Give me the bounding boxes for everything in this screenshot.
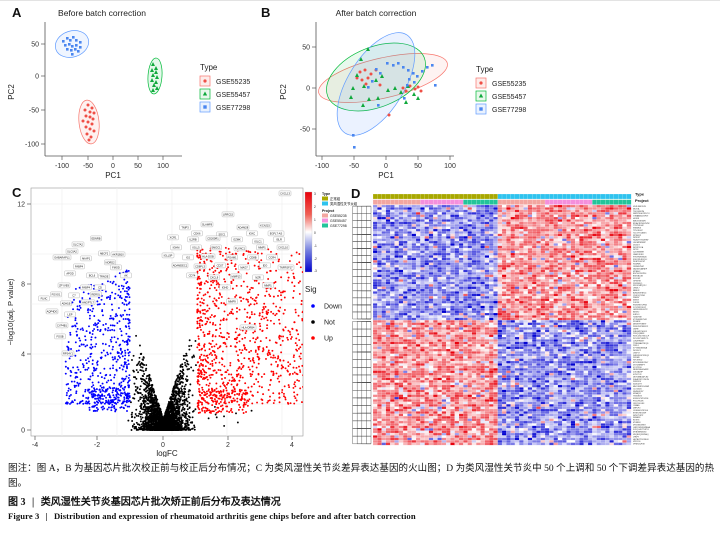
svg-text:SLC7A2: SLC7A2 — [73, 243, 83, 247]
svg-text:AKR1B10: AKR1B10 — [112, 253, 124, 257]
svg-text:FMOD: FMOD — [112, 266, 120, 270]
sig-legend-title: Sig — [305, 285, 317, 294]
caption-en-number: Figure 3 — [8, 511, 39, 521]
svg-text:PGAM1: PGAM1 — [227, 256, 237, 260]
svg-text:50: 50 — [302, 45, 310, 52]
panel-b-legend-item-1: GSE55457 — [492, 94, 526, 101]
panel-a-ylabel: PC2 — [7, 84, 16, 100]
svg-text:CD27: CD27 — [217, 264, 224, 268]
svg-text:EGFL7-AS: EGFL7-AS — [270, 232, 283, 236]
panel-a-legend-item-2: GSE77298 — [216, 105, 250, 112]
panel-a-legend-item-0: GSE55235 — [216, 79, 250, 86]
svg-text:TNFRSF17: TNFRSF17 — [279, 266, 293, 270]
svg-text:CDK6: CDK6 — [194, 232, 201, 236]
panel-d-heatmap: D Type Project V441J8WOUW6EZOATDK109VXMN… — [345, 182, 720, 457]
svg-text:2: 2 — [226, 442, 230, 449]
panel-b-title: After batch correction — [336, 8, 417, 18]
svg-text:100: 100 — [444, 163, 456, 170]
svg-text:FABP4: FABP4 — [82, 286, 91, 290]
panel-a-y-ticks: 50 0 -50 -100 — [25, 42, 45, 149]
svg-text:IDO: IDO — [263, 264, 268, 268]
panel-b-legend: Type GSE55235 GSE55457 GSE77298 — [476, 65, 526, 114]
column-annotation-type — [373, 194, 631, 199]
svg-text:4: 4 — [21, 352, 25, 359]
svg-text:TNIP3: TNIP3 — [181, 226, 189, 230]
svg-text:MAO7: MAO7 — [240, 266, 248, 270]
svg-text:TRNOE: TRNOE — [99, 275, 108, 279]
heatmap-row-labels: V441J8WOUW6EZOATDK109VXMNW9PSLHYKRL7UGTB… — [633, 206, 651, 446]
figure-area: A Before batch correction 50 0 -50 -100 … — [0, 0, 720, 460]
svg-text:4: 4 — [290, 442, 294, 449]
panel-d-letter: D — [351, 186, 360, 201]
panel-a-letter: A — [12, 5, 22, 20]
svg-text:IGKC: IGKC — [249, 232, 255, 236]
svg-text:0: 0 — [111, 163, 115, 170]
svg-text:AK: AK — [124, 274, 128, 278]
svg-text:ISLR: ISLR — [276, 238, 282, 242]
svg-text:-50: -50 — [349, 163, 359, 170]
sig-legend-down: Down — [324, 304, 342, 311]
svg-text:50: 50 — [414, 163, 422, 170]
svg-text:-4: -4 — [32, 442, 38, 449]
svg-text:MMP9: MMP9 — [228, 300, 236, 304]
svg-text:CXCL13: CXCL13 — [280, 192, 290, 196]
svg-text:正常组: 正常组 — [330, 196, 341, 201]
panel-a-legend: Type GSE55235 GSE55457 GSE77298 — [200, 63, 250, 112]
svg-text:IGHM: IGHM — [173, 246, 180, 250]
svg-text:NZR: NZR — [255, 276, 260, 280]
svg-text:KCNJ15: KCNJ15 — [260, 224, 270, 228]
heatmap-colorbar: 3 2 1 0 -1 -2 -3 — [305, 192, 317, 273]
panel-c-ylabel: −log10(adj. P value) — [6, 278, 15, 345]
column-annotation-project — [373, 200, 631, 205]
svg-text:MMP1: MMP1 — [258, 246, 266, 250]
caption-note: 图注：图 A，B 为基因芯片批次校正前与校正后分布情况；C 为类风湿性关节炎差异… — [8, 462, 714, 491]
svg-text:GABARAPL1: GABARAPL1 — [54, 256, 70, 260]
svg-text:AQP4DG: AQP4DG — [47, 310, 58, 314]
panel-c-sig-legend: Sig Down Not Up — [305, 285, 342, 343]
figure-caption: 图注：图 A，B 为基因芯片批次校正前与校正后分布情况；C 为类风湿性关节炎差异… — [8, 462, 714, 521]
annotation-label-project: Project — [635, 198, 649, 203]
svg-text:IGLL5: IGLL5 — [192, 246, 200, 250]
svg-text:HLA-DRB4: HLA-DRB4 — [242, 326, 255, 330]
svg-text:CYP4B1: CYP4B1 — [57, 324, 68, 328]
svg-text:-50: -50 — [83, 163, 93, 170]
svg-text:2: 2 — [314, 205, 316, 209]
svg-text:LEP: LEP — [68, 313, 73, 317]
svg-text:0: 0 — [21, 428, 25, 435]
svg-text:ABCF2: ABCF2 — [100, 252, 109, 256]
svg-text:CXCL9: CXCL9 — [210, 276, 219, 280]
svg-text:IGLL5P: IGLL5P — [164, 254, 173, 258]
svg-text:SMOC1: SMOC1 — [211, 246, 221, 250]
svg-text:SLC0A2: SLC0A2 — [67, 250, 77, 254]
svg-text:CXCL10: CXCL10 — [278, 246, 288, 250]
svg-text:-1: -1 — [314, 244, 317, 248]
svg-text:IL2RB: IL2RB — [189, 238, 196, 242]
svg-text:50: 50 — [31, 42, 39, 49]
svg-text:MMP1: MMP1 — [264, 284, 272, 288]
svg-text:ADAMDEC1: ADAMDEC1 — [173, 264, 188, 268]
svg-text:RERGL: RERGL — [92, 293, 101, 297]
svg-text:CD: CD — [98, 286, 102, 290]
svg-text:RPS4Y1: RPS4Y1 — [63, 352, 74, 356]
svg-text:CD8B: CD8B — [250, 256, 257, 260]
svg-text:SLAMF8: SLAMF8 — [202, 223, 213, 227]
panel-b-y-ticks: 50 0 -50 — [300, 45, 316, 134]
svg-text:8: 8 — [21, 282, 25, 289]
svg-text:ADAM28: ADAM28 — [238, 226, 249, 230]
caption-zh-sep: | — [32, 497, 34, 508]
svg-text:100: 100 — [157, 163, 169, 170]
svg-text:FOXO1: FOXO1 — [52, 293, 61, 297]
panel-a-xlabel: PC1 — [105, 171, 121, 180]
svg-text:CD74: CD74 — [189, 274, 196, 278]
caption-zh-title: 类风湿性关节炎基因芯片批次矫正前后分布及表达情况 — [41, 497, 281, 508]
svg-text:BCL6: BCL6 — [89, 274, 96, 278]
svg-text:IGLC1: IGLC1 — [254, 240, 262, 244]
svg-text:-50: -50 — [29, 108, 39, 115]
svg-text:-3: -3 — [314, 269, 317, 273]
svg-text:1: 1 — [314, 218, 316, 222]
svg-text:-100: -100 — [25, 142, 39, 149]
svg-text:-2: -2 — [94, 442, 100, 449]
panel-b-letter: B — [261, 5, 270, 20]
svg-text:12: 12 — [17, 202, 25, 209]
caption-zh-number: 图 3 — [8, 497, 26, 508]
row-dendrogram — [353, 206, 371, 444]
panel-c-x-ticks: -4 -2 0 2 4 — [32, 436, 294, 449]
panel-b-ylabel: PC2 — [279, 84, 288, 100]
panel-a-legend-item-1: GSE55457 — [216, 92, 250, 99]
svg-text:Type: Type — [322, 192, 330, 196]
panel-a-title: Before batch correction — [58, 8, 146, 18]
svg-text:3: 3 — [314, 192, 316, 196]
panel-c-y-ticks: 12 8 4 0 — [17, 202, 31, 435]
svg-text:LRRC15: LRRC15 — [223, 213, 234, 217]
sig-legend-up: Up — [324, 336, 333, 343]
svg-text:C7: C7 — [72, 294, 76, 298]
svg-text:XCR1: XCR1 — [170, 236, 177, 240]
panel-a-legend-title: Type — [200, 63, 218, 72]
svg-text:-100: -100 — [55, 163, 69, 170]
svg-text:-50: -50 — [300, 127, 310, 134]
svg-text:IGHD: IGHD — [222, 286, 229, 290]
svg-text:FLNC: FLNC — [41, 297, 48, 301]
panel-c-xlabel: logFC — [156, 449, 178, 457]
svg-text:0: 0 — [35, 74, 39, 81]
svg-text:FLXNC1: FLXNC1 — [235, 247, 246, 251]
svg-text:0: 0 — [306, 86, 310, 93]
caption-en-title: Distribution and expression of rheumatoi… — [54, 511, 416, 521]
annotation-label-type: Type — [635, 192, 645, 197]
panel-c-letter: C — [12, 185, 22, 200]
svg-text:EDNRB: EDNRB — [91, 237, 100, 241]
svg-text:AKAP1: AKAP1 — [82, 257, 91, 261]
panel-b-x-ticks: -100 -50 0 50 100 — [315, 156, 456, 170]
caption-en-sep: | — [46, 511, 48, 521]
panel-b-pca-after: B After batch correction 50 0 -50 -100 -… — [258, 0, 618, 180]
svg-text:ADH1B: ADH1B — [62, 302, 71, 306]
svg-text:ANGPTL7: ANGPTL7 — [82, 301, 94, 305]
svg-text:-100: -100 — [315, 163, 329, 170]
svg-text:APOD: APOD — [66, 272, 73, 276]
svg-text:FABP4: FABP4 — [75, 265, 84, 269]
svg-text:CD8PL3: CD8PL3 — [195, 265, 205, 269]
svg-text:HLA-DOB: HLA-DOB — [202, 255, 214, 259]
svg-text:50: 50 — [134, 163, 142, 170]
svg-text:CD200R1: CD200R1 — [207, 237, 219, 241]
panel-b-legend-item-0: GSE55235 — [492, 81, 526, 88]
svg-text:0: 0 — [384, 163, 388, 170]
panel-b-legend-item-2: GSE77298 — [492, 107, 526, 114]
svg-text:FOSB: FOSB — [56, 335, 63, 339]
heatmap-cells — [373, 205, 631, 445]
svg-text:-2: -2 — [314, 257, 317, 261]
svg-text:0: 0 — [161, 442, 165, 449]
svg-text:NORD2: NORD2 — [105, 261, 115, 265]
panel-b-xlabel: PC1 — [378, 171, 394, 180]
svg-text:Project: Project — [322, 209, 335, 213]
svg-text:GZMK: GZMK — [233, 238, 241, 242]
svg-text:CCR4: CCR4 — [268, 256, 276, 260]
svg-text:0: 0 — [314, 231, 316, 235]
svg-text:ZFYVE9: ZFYVE9 — [59, 284, 69, 288]
panel-b-legend-title: Type — [476, 65, 494, 74]
caption-en: Figure 3 | Distribution and expression o… — [8, 511, 714, 521]
svg-text:MMP13: MMP13 — [232, 275, 241, 279]
svg-text:IGJ: IGJ — [186, 256, 191, 260]
panel-c-volcano: C 12 8 4 0 -4 -2 0 — [0, 182, 360, 457]
sig-legend-not: Not — [324, 320, 335, 327]
panel-a-x-ticks: -100 -50 0 50 100 — [55, 156, 169, 170]
caption-zh: 图 3 | 类风湿性关节炎基因芯片批次矫正前后分布及表达情况 — [8, 493, 714, 508]
